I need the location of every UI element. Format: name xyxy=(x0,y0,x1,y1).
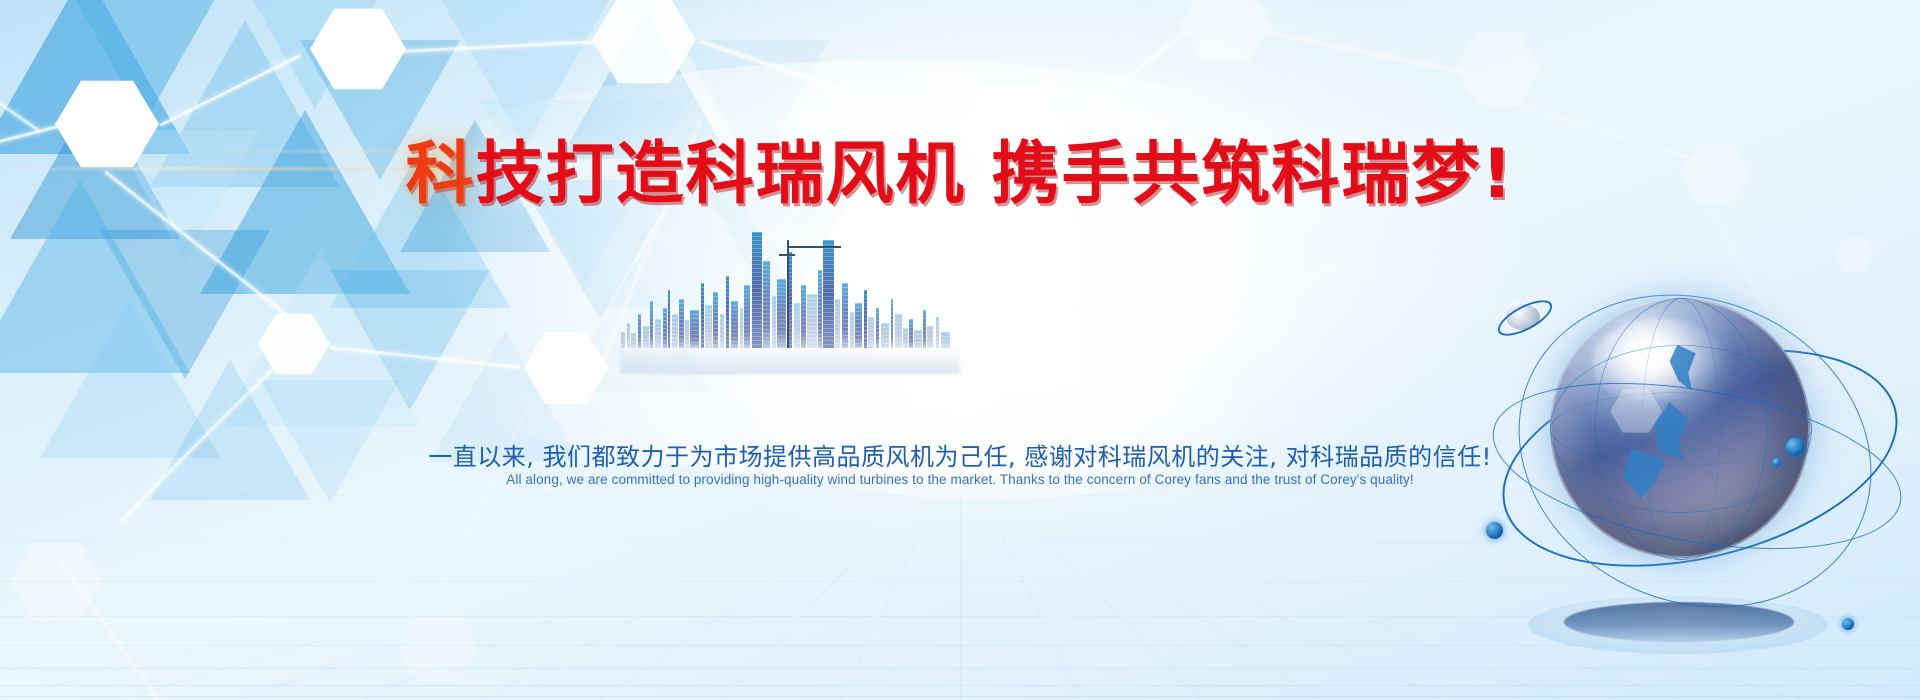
headline-accent-char: 科 xyxy=(406,135,476,214)
banner-subtitle-chinese: 一直以来, 我们都致力于为市场提供高品质风机为己任, 感谢对科瑞风机的关注, 对… xyxy=(0,437,1920,472)
banner-content: 科技打造科瑞风机 携手共筑科瑞梦! 一直以来, 我们都致力于为市场提供高品质风机… xyxy=(0,0,1920,700)
headline-rest: 技打造科瑞风机 携手共筑科瑞梦! xyxy=(476,135,1515,214)
banner-subtitle-english: All along, we are committed to providing… xyxy=(0,472,1920,487)
banner-headline: 科技打造科瑞风机 携手共筑科瑞梦! xyxy=(0,118,1920,217)
promo-banner: 科技打造科瑞风机 携手共筑科瑞梦! 一直以来, 我们都致力于为市场提供高品质风机… xyxy=(0,0,1920,700)
